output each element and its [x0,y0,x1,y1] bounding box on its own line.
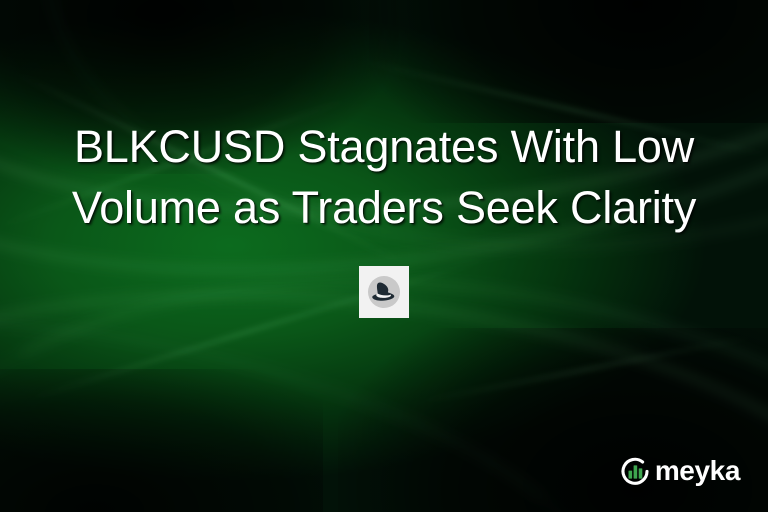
headline-title: BLKCUSD Stagnates With Low Volume as Tra… [34,0,734,238]
circle-bar-chart-icon [618,454,652,488]
brand-logo[interactable]: meyka [618,454,740,488]
brand-name-label: meyka [655,457,740,485]
source-avatar [359,266,409,318]
card-content: BLKCUSD Stagnates With Low Volume as Tra… [0,0,768,512]
fedora-hat-icon [366,274,402,310]
article-share-card: BLKCUSD Stagnates With Low Volume as Tra… [0,0,768,512]
